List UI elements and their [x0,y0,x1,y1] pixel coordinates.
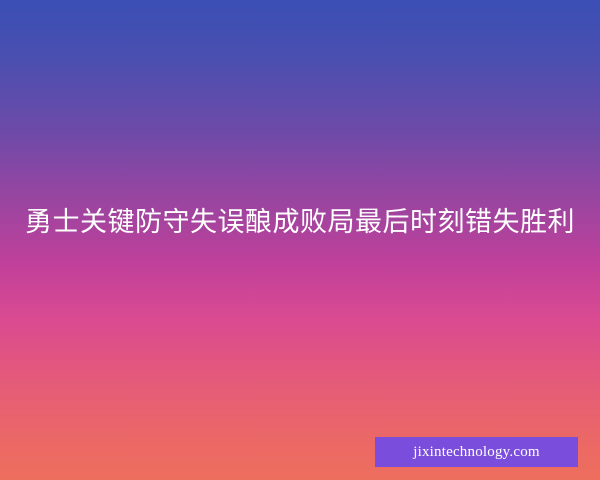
gradient-banner: 勇士关键防守失误酿成败局最后时刻错失胜利 jixintechnology.com [0,0,600,480]
headline-text: 勇士关键防守失误酿成败局最后时刻错失胜利 [0,0,600,243]
watermark-badge: jixintechnology.com [375,437,578,467]
watermark-label: jixintechnology.com [413,444,540,461]
